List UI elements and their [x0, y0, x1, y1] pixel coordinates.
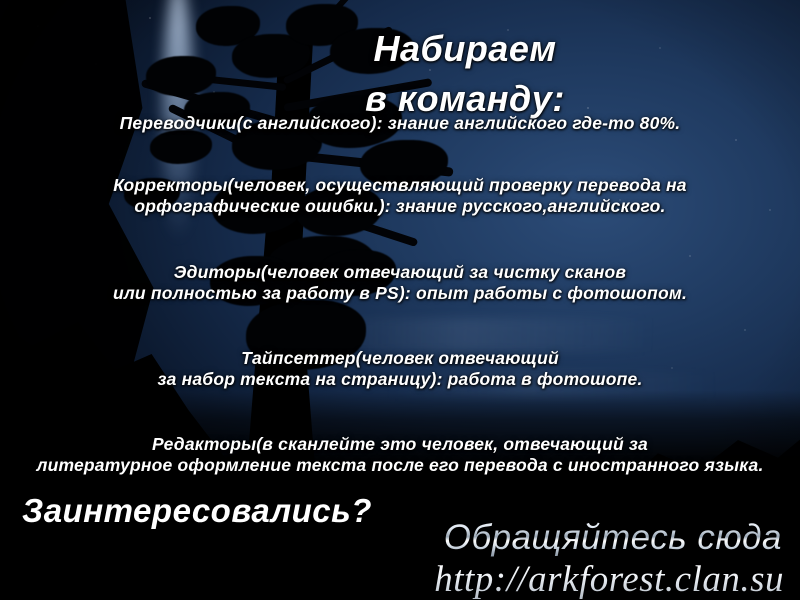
role-proofreaders-text: Корректоры(человек, осуществляющий прове…: [0, 175, 800, 216]
poster-image: Набираем в команду: Переводчики(с англий…: [0, 0, 800, 600]
interested-callout: Заинтересовались?: [22, 492, 372, 531]
headline-title: Набираем в команду:: [0, 24, 800, 123]
website-url-link[interactable]: http://arkforest.clan.su: [434, 558, 784, 600]
role-redactors-text: Редакторы(в сканлейте это человек, отвеч…: [0, 434, 800, 475]
role-typesetter-text: Тайпсеттер(человек отвечающий за набор т…: [0, 348, 800, 389]
role-translators-text: Переводчики(с английского): знание англи…: [0, 113, 800, 134]
poster-text-content: Набираем в команду: Переводчики(с англий…: [0, 0, 800, 600]
role-editors-text: Эдиторы(человек отвечающий за чистку ска…: [0, 262, 800, 303]
contact-callout: Обращяйтесь сюда: [444, 517, 782, 558]
